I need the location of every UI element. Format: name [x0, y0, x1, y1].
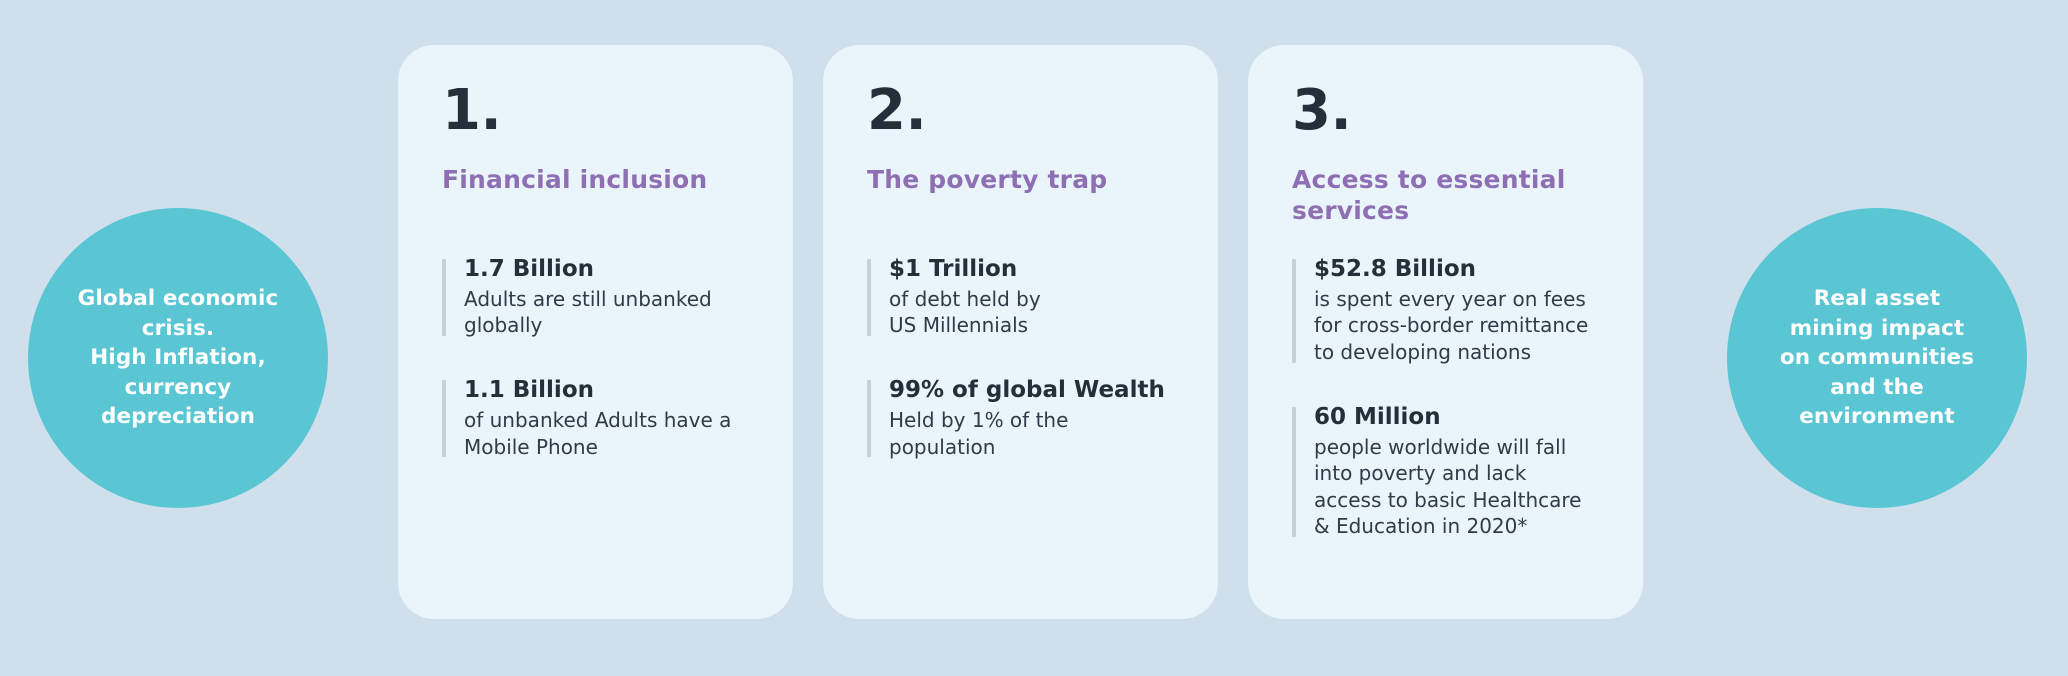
circle-left-problem: Global economic crisis. High Inflation, … — [28, 208, 328, 508]
circle-right-label: Real asset mining impact on communities … — [1727, 284, 2027, 432]
stat-description: people worldwide will fall into poverty … — [1314, 434, 1599, 540]
card-stats-list: $52.8 Billion is spent every year on fee… — [1292, 255, 1599, 540]
stat-value: 60 Million — [1314, 403, 1599, 433]
circle-right-impact: Real asset mining impact on communities … — [1727, 208, 2027, 508]
stat-value: 99% of global Wealth — [889, 376, 1174, 406]
stat-item: $52.8 Billion is spent every year on fee… — [1292, 255, 1599, 366]
card-access-essential-services: 3. Access to essential services $52.8 Bi… — [1248, 45, 1643, 619]
card-number: 3. — [1292, 83, 1599, 139]
card-financial-inclusion: 1. Financial inclusion 1.7 Billion Adult… — [398, 45, 793, 619]
infographic-board: Global economic crisis. High Inflation, … — [0, 0, 2068, 676]
circle-left-label: Global economic crisis. High Inflation, … — [28, 284, 328, 432]
card-title: Access to essential services — [1292, 165, 1599, 227]
stat-description: Held by 1% of the population — [889, 407, 1174, 460]
stat-value: 1.7 Billion — [464, 255, 749, 285]
card-number: 2. — [867, 83, 1174, 139]
stat-value: $1 Trillion — [889, 255, 1174, 285]
card-title: Financial inclusion — [442, 165, 749, 227]
card-title: The poverty trap — [867, 165, 1174, 227]
stat-value: $52.8 Billion — [1314, 255, 1599, 285]
stat-description: is spent every year on fees for cross-bo… — [1314, 286, 1599, 366]
stat-description: of debt held by US Millennials — [889, 286, 1174, 339]
cards-row: 1. Financial inclusion 1.7 Billion Adult… — [398, 45, 1643, 619]
stat-description: of unbanked Adults have a Mobile Phone — [464, 407, 749, 460]
stat-description: Adults are still unbanked globally — [464, 286, 749, 339]
card-poverty-trap: 2. The poverty trap $1 Trillion of debt … — [823, 45, 1218, 619]
card-stats-list: 1.7 Billion Adults are still unbanked gl… — [442, 255, 749, 460]
card-number: 1. — [442, 83, 749, 139]
stat-item: 60 Million people worldwide will fall in… — [1292, 403, 1599, 540]
stat-item: 99% of global Wealth Held by 1% of the p… — [867, 376, 1174, 460]
card-stats-list: $1 Trillion of debt held by US Millennia… — [867, 255, 1174, 460]
stat-item: 1.1 Billion of unbanked Adults have a Mo… — [442, 376, 749, 460]
stat-item: 1.7 Billion Adults are still unbanked gl… — [442, 255, 749, 339]
stat-item: $1 Trillion of debt held by US Millennia… — [867, 255, 1174, 339]
stat-value: 1.1 Billion — [464, 376, 749, 406]
